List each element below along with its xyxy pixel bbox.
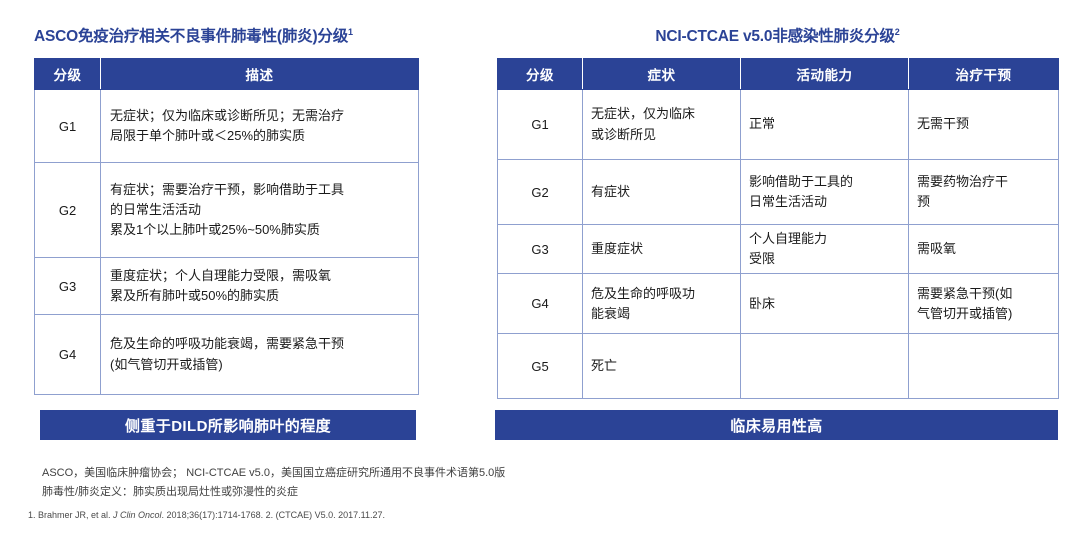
- activity-cell: 个人自理能力 受限: [741, 225, 909, 274]
- table-header-row: 分级 症状 活动能力 治疗干预: [498, 59, 1059, 90]
- cell-line: 受限: [749, 249, 902, 269]
- cell-line: 需吸氧: [917, 239, 1052, 259]
- table-row: G5 死亡: [498, 334, 1059, 399]
- asco-panel: ASCO免疫治疗相关不良事件肺毒性(肺炎)分级1 分级 描述 G1 无症状；仅为…: [34, 0, 418, 395]
- reference-suffix: . 2018;36(17):1714-1768. 2. (CTCAE) V5.0…: [162, 510, 385, 520]
- cell-line: 有症状: [591, 182, 734, 202]
- grade-label: G2: [35, 163, 101, 258]
- column-header-activity: 活动能力: [741, 59, 909, 90]
- column-header-intervention: 治疗干预: [909, 59, 1059, 90]
- table-row: G1 无症状；仅为临床或诊断所见；无需治疗 局限于单个肺叶或＜25%的肺实质: [35, 90, 419, 163]
- description-line: 累及所有肺叶或50%的肺实质: [110, 286, 411, 306]
- footnote-definition: 肺毒性/肺炎定义：肺实质出现局灶性或弥漫性的炎症: [42, 483, 742, 502]
- intervention-cell: 需吸氧: [909, 225, 1059, 274]
- intervention-cell: [909, 334, 1059, 399]
- cell-line: 气管切开或插管): [917, 304, 1052, 324]
- footnote-abbreviations: ASCO，美国临床肿瘤协会； NCI-CTCAE v5.0，美国国立癌症研究所通…: [42, 464, 742, 483]
- table-row: G4 危及生命的呼吸功 能衰竭 卧床 需要紧急干预(如 气管切开或插管): [498, 274, 1059, 334]
- ctcae-panel: NCI-CTCAE v5.0非感染性肺炎分级2 分级 症状 活动能力 治疗干预 …: [497, 0, 1058, 399]
- table-row: G4 危及生命的呼吸功能衰竭，需要紧急干预 (如气管切开或插管): [35, 315, 419, 395]
- grade-description: 无症状；仅为临床或诊断所见；无需治疗 局限于单个肺叶或＜25%的肺实质: [101, 90, 419, 163]
- ctcae-summary-banner: 临床易用性高: [495, 410, 1058, 440]
- description-line: 无症状；仅为临床或诊断所见；无需治疗: [110, 106, 411, 126]
- asco-summary-banner: 侧重于DILD所影响肺叶的程度: [40, 410, 416, 440]
- reference-journal: J Clin Oncol: [113, 510, 162, 520]
- description-line: 有症状；需要治疗干预，影响借助于工具: [110, 180, 411, 200]
- table-header-row: 分级 描述: [35, 59, 419, 90]
- ctcae-title-text: NCI-CTCAE v5.0非感染性肺炎分级: [655, 28, 894, 45]
- cell-line: 需要紧急干预(如: [917, 284, 1052, 304]
- column-header-grade: 分级: [498, 59, 583, 90]
- cell-line: 或诊断所见: [591, 125, 734, 145]
- grade-label: G4: [498, 274, 583, 334]
- grade-label: G5: [498, 334, 583, 399]
- reference-citation: 1. Brahmer JR, et al. J Clin Oncol. 2018…: [28, 508, 385, 522]
- asco-title-superscript: 1: [348, 27, 353, 37]
- symptom-cell: 重度症状: [583, 225, 741, 274]
- asco-title-text: ASCO免疫治疗相关不良事件肺毒性(肺炎)分级: [34, 28, 348, 45]
- cell-line: 无需干预: [917, 114, 1052, 134]
- asco-panel-title: ASCO免疫治疗相关不良事件肺毒性(肺炎)分级1: [34, 25, 418, 49]
- symptom-cell: 危及生命的呼吸功 能衰竭: [583, 274, 741, 334]
- footnotes: ASCO，美国临床肿瘤协会； NCI-CTCAE v5.0，美国国立癌症研究所通…: [42, 464, 742, 502]
- description-line: 局限于单个肺叶或＜25%的肺实质: [110, 126, 411, 146]
- table-row: G3 重度症状 个人自理能力 受限 需吸氧: [498, 225, 1059, 274]
- symptom-cell: 有症状: [583, 160, 741, 225]
- column-header-grade: 分级: [35, 59, 101, 90]
- cell-line: 死亡: [591, 356, 734, 376]
- symptom-cell: 死亡: [583, 334, 741, 399]
- cell-line: 预: [917, 192, 1052, 212]
- grade-label: G1: [498, 90, 583, 160]
- grade-label: G4: [35, 315, 101, 395]
- table-row: G3 重度症状；个人自理能力受限，需吸氧 累及所有肺叶或50%的肺实质: [35, 258, 419, 315]
- symptom-cell: 无症状，仅为临床 或诊断所见: [583, 90, 741, 160]
- description-line: 累及1个以上肺叶或25%~50%肺实质: [110, 220, 411, 240]
- grade-label: G3: [35, 258, 101, 315]
- cell-line: 危及生命的呼吸功: [591, 284, 734, 304]
- table-row: G2 有症状 影响借助于工具的 日常生活活动 需要药物治疗干 预: [498, 160, 1059, 225]
- grade-label: G1: [35, 90, 101, 163]
- cell-line: 个人自理能力: [749, 229, 902, 249]
- ctcae-title-superscript: 2: [895, 27, 900, 37]
- description-line: 危及生命的呼吸功能衰竭，需要紧急干预: [110, 334, 411, 354]
- grade-label: G3: [498, 225, 583, 274]
- intervention-cell: 无需干预: [909, 90, 1059, 160]
- ctcae-panel-title: NCI-CTCAE v5.0非感染性肺炎分级2: [497, 25, 1058, 49]
- asco-grading-table: 分级 描述 G1 无症状；仅为临床或诊断所见；无需治疗 局限于单个肺叶或＜25%…: [34, 58, 419, 395]
- cell-line: 无症状，仅为临床: [591, 104, 734, 124]
- grade-description: 有症状；需要治疗干预，影响借助于工具 的日常生活活动 累及1个以上肺叶或25%~…: [101, 163, 419, 258]
- cell-line: 影响借助于工具的: [749, 172, 902, 192]
- activity-cell: 影响借助于工具的 日常生活活动: [741, 160, 909, 225]
- description-line: (如气管切开或插管): [110, 355, 411, 375]
- grade-description: 重度症状；个人自理能力受限，需吸氧 累及所有肺叶或50%的肺实质: [101, 258, 419, 315]
- description-line: 重度症状；个人自理能力受限，需吸氧: [110, 266, 411, 286]
- table-row: G1 无症状，仅为临床 或诊断所见 正常 无需干预: [498, 90, 1059, 160]
- cell-line: 卧床: [749, 294, 902, 314]
- description-line: 的日常生活活动: [110, 200, 411, 220]
- ctcae-grading-table: 分级 症状 活动能力 治疗干预 G1 无症状，仅为临床 或诊断所见 正常 无需干…: [497, 58, 1059, 399]
- cell-line: 日常生活活动: [749, 192, 902, 212]
- activity-cell: [741, 334, 909, 399]
- table-row: G2 有症状；需要治疗干预，影响借助于工具 的日常生活活动 累及1个以上肺叶或2…: [35, 163, 419, 258]
- cell-line: 需要药物治疗干: [917, 172, 1052, 192]
- cell-line: 能衰竭: [591, 304, 734, 324]
- intervention-cell: 需要紧急干预(如 气管切开或插管): [909, 274, 1059, 334]
- activity-cell: 正常: [741, 90, 909, 160]
- column-header-symptom: 症状: [583, 59, 741, 90]
- cell-line: 正常: [749, 114, 902, 134]
- column-header-description: 描述: [101, 59, 419, 90]
- reference-prefix: 1. Brahmer JR, et al.: [28, 510, 113, 520]
- grade-description: 危及生命的呼吸功能衰竭，需要紧急干预 (如气管切开或插管): [101, 315, 419, 395]
- cell-line: 重度症状: [591, 239, 734, 259]
- activity-cell: 卧床: [741, 274, 909, 334]
- intervention-cell: 需要药物治疗干 预: [909, 160, 1059, 225]
- grade-label: G2: [498, 160, 583, 225]
